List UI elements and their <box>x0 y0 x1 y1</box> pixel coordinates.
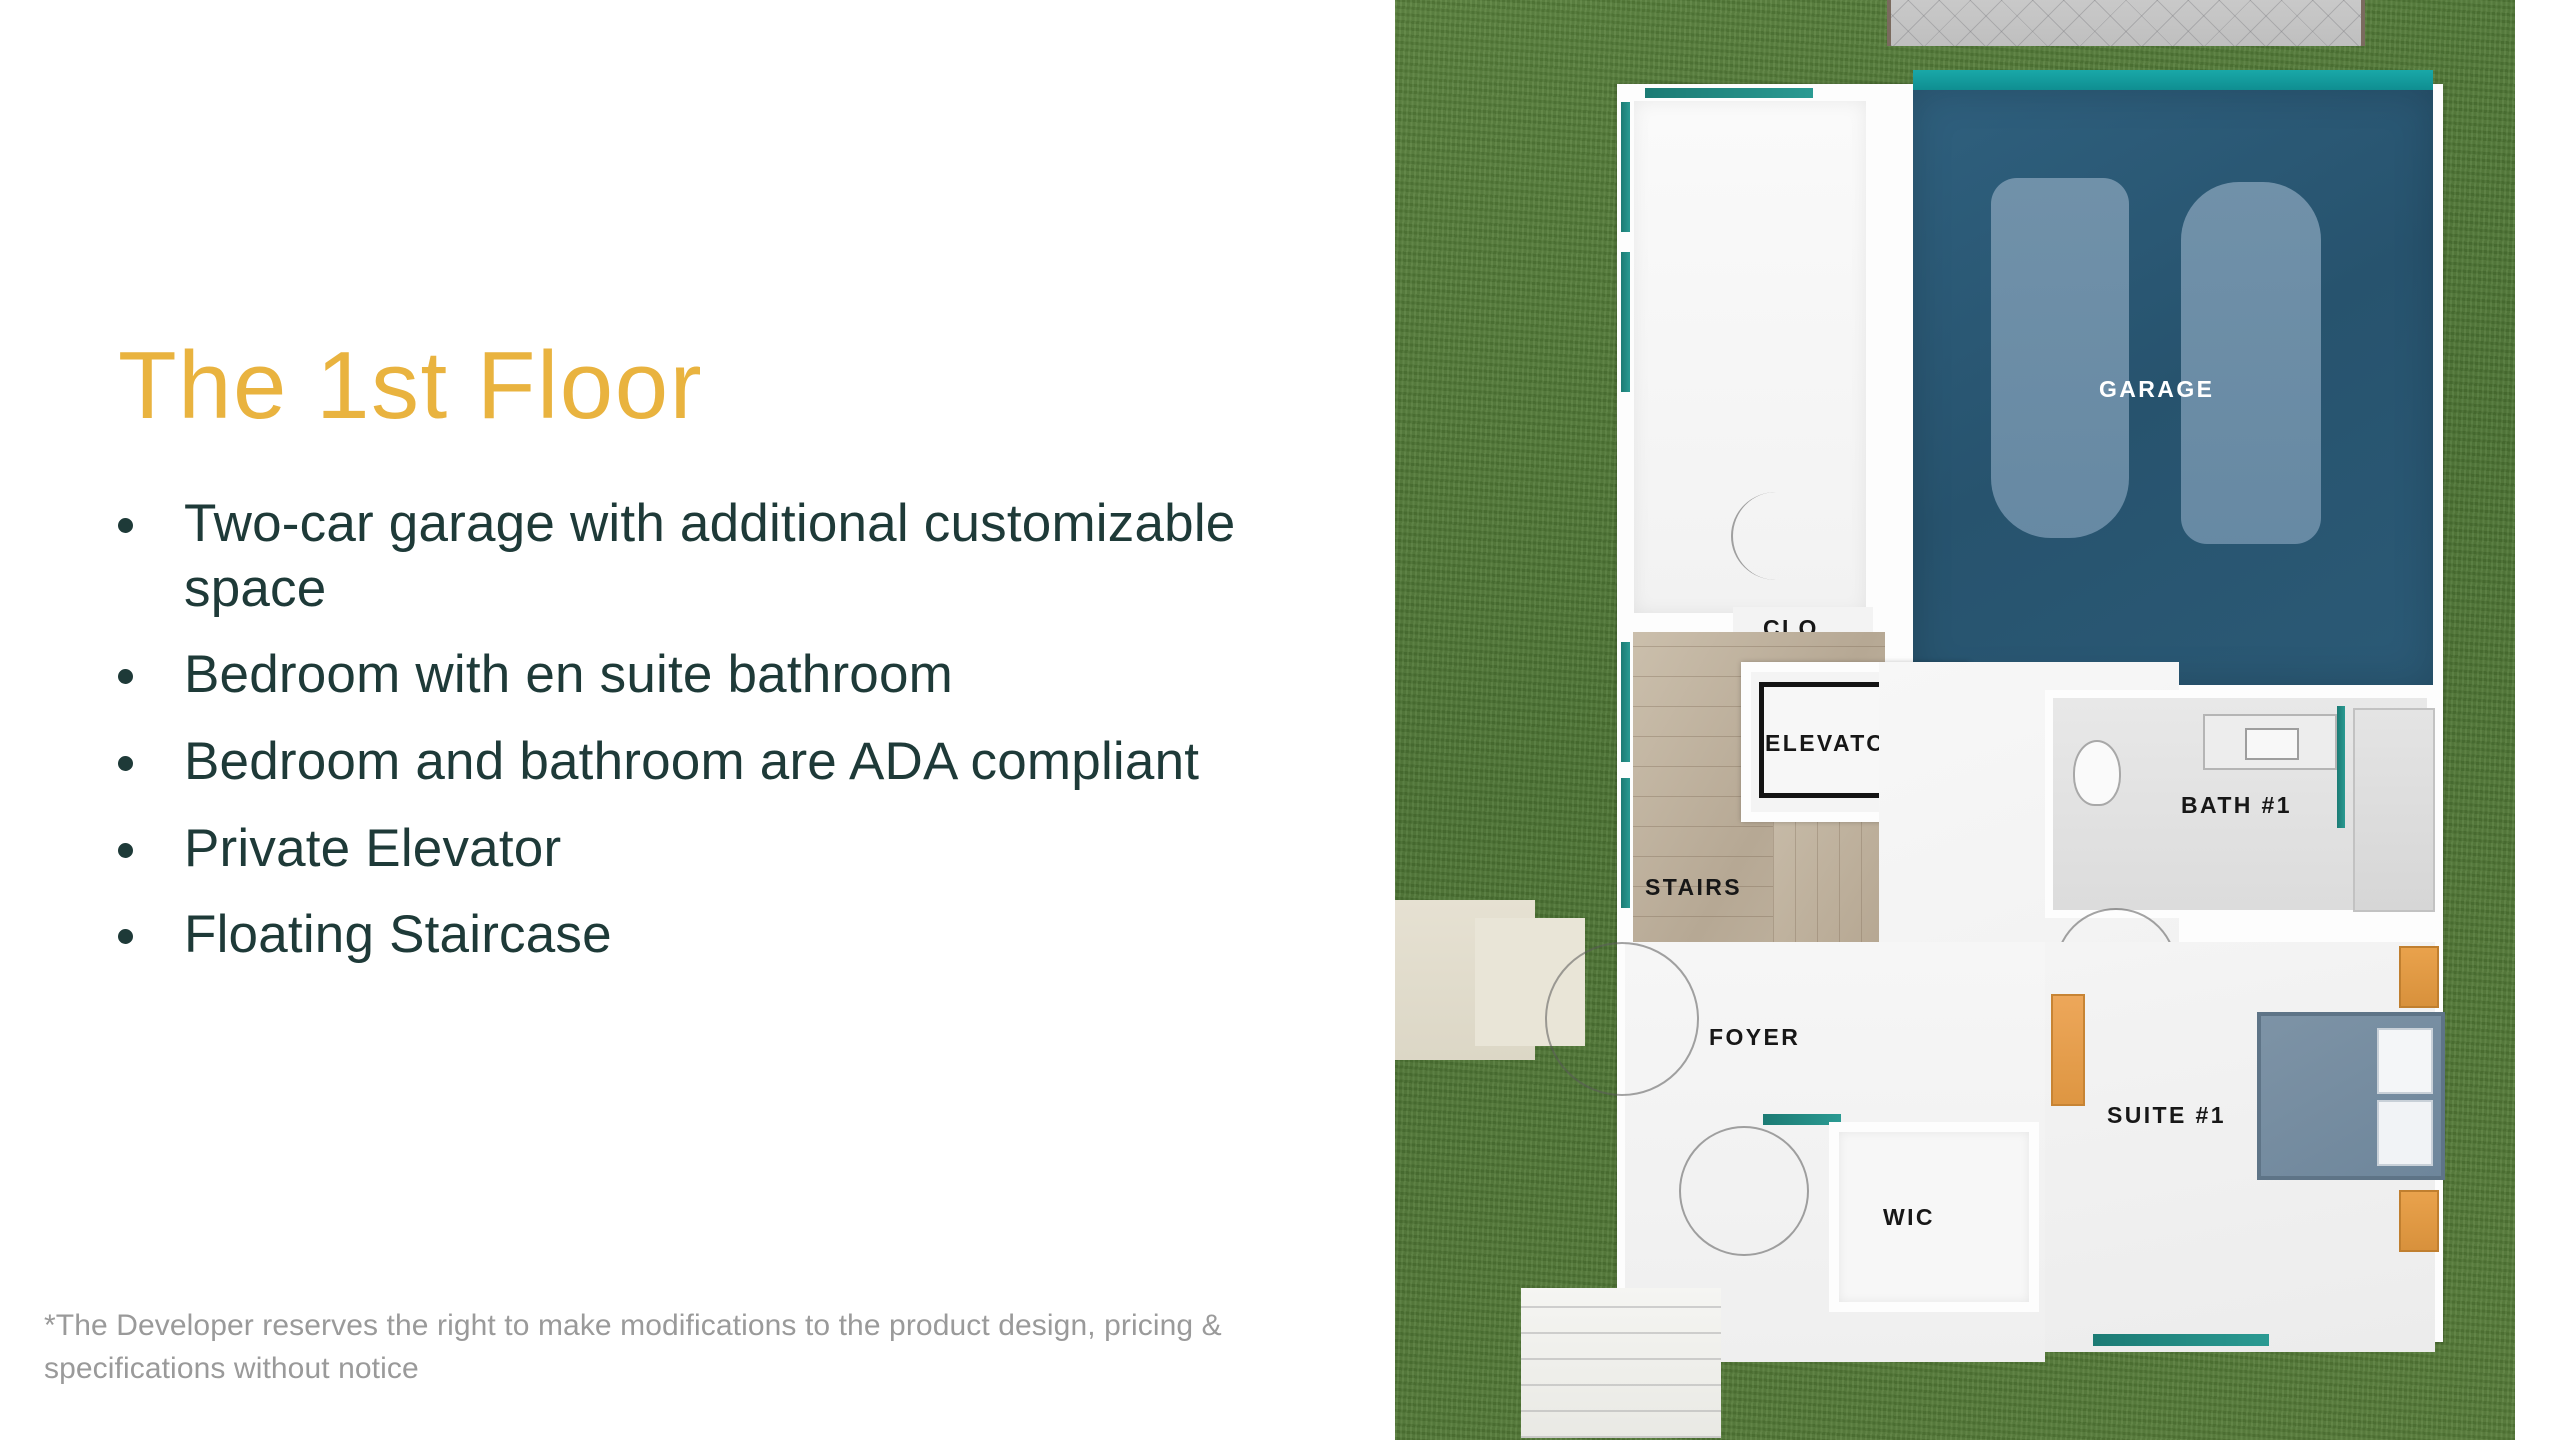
bullet-dot-icon <box>118 929 133 944</box>
door-icon <box>2051 994 2085 1106</box>
bullet-text: Two-car garage with additional customiza… <box>184 494 1235 618</box>
window-icon <box>2093 1334 2269 1346</box>
bullet-text: Bedroom with en suite bathroom <box>184 645 953 704</box>
shower-icon <box>2353 708 2435 912</box>
nightstand-icon <box>2399 1190 2439 1252</box>
bed-icon <box>2257 1012 2445 1180</box>
toilet-icon <box>2073 740 2121 806</box>
window-icon <box>1621 778 1630 908</box>
room-garage: GARAGE <box>1913 90 2433 685</box>
list-item: Bedroom with en suite bathroom <box>112 643 1372 708</box>
feature-bullet-list: Two-car garage with additional customiza… <box>112 492 1372 990</box>
pillow-icon <box>2377 1028 2433 1094</box>
room-label-suite: SUITE #1 <box>2107 1102 2226 1129</box>
floorplan-image: GARAGE CLO STAIRS UP ELEVATOR FOYER <box>1395 0 2560 1440</box>
house-footprint: GARAGE CLO STAIRS UP ELEVATOR FOYER <box>1583 62 2428 1352</box>
window-icon <box>1645 88 1813 98</box>
slide-root: The 1st Floor Two-car garage with additi… <box>0 0 2560 1440</box>
vanity-icon <box>2203 714 2337 770</box>
car-icon <box>1991 178 2129 538</box>
room-label-wic: WIC <box>1883 1204 1935 1231</box>
room-label-bath: BATH #1 <box>2181 792 2292 819</box>
room-label-stairs: STAIRS <box>1645 874 1742 901</box>
driveway-pavers <box>1887 0 2365 46</box>
page-title: The 1st Floor <box>118 338 703 434</box>
list-item: Bedroom and bathroom are ADA compliant <box>112 730 1372 795</box>
door-swing-arc-icon <box>1679 1126 1809 1256</box>
bullet-dot-icon <box>118 669 133 684</box>
nightstand-icon <box>2399 946 2439 1008</box>
list-item: Floating Staircase <box>112 903 1372 968</box>
pillow-icon <box>2377 1100 2433 1166</box>
text-panel: The 1st Floor Two-car garage with additi… <box>0 0 1395 1440</box>
car-icon <box>2181 182 2321 544</box>
room-label-foyer: FOYER <box>1709 1024 1800 1051</box>
window-icon <box>1621 102 1630 232</box>
garage-door <box>1913 70 2433 90</box>
room-label-garage: GARAGE <box>2099 376 2214 403</box>
bullet-text: Floating Staircase <box>184 905 612 964</box>
list-item: Two-car garage with additional customiza… <box>112 492 1372 621</box>
bullet-dot-icon <box>118 756 133 771</box>
bullet-text: Private Elevator <box>184 819 561 878</box>
sink-icon <box>2245 728 2299 760</box>
window-icon <box>1621 252 1630 392</box>
window-icon <box>1621 642 1630 762</box>
door-swing-arc-icon <box>1545 942 1699 1096</box>
door-swing-arc-icon <box>1731 492 1821 580</box>
bullet-dot-icon <box>118 843 133 858</box>
entry-steps <box>1521 1288 1721 1438</box>
disclaimer-text: *The Developer reserves the right to mak… <box>44 1305 1354 1390</box>
bullet-text: Bedroom and bathroom are ADA compliant <box>184 732 1199 791</box>
room-suite <box>2045 942 2435 1352</box>
bullet-dot-icon <box>118 518 133 533</box>
list-item: Private Elevator <box>112 817 1372 882</box>
window-icon <box>2337 706 2345 828</box>
